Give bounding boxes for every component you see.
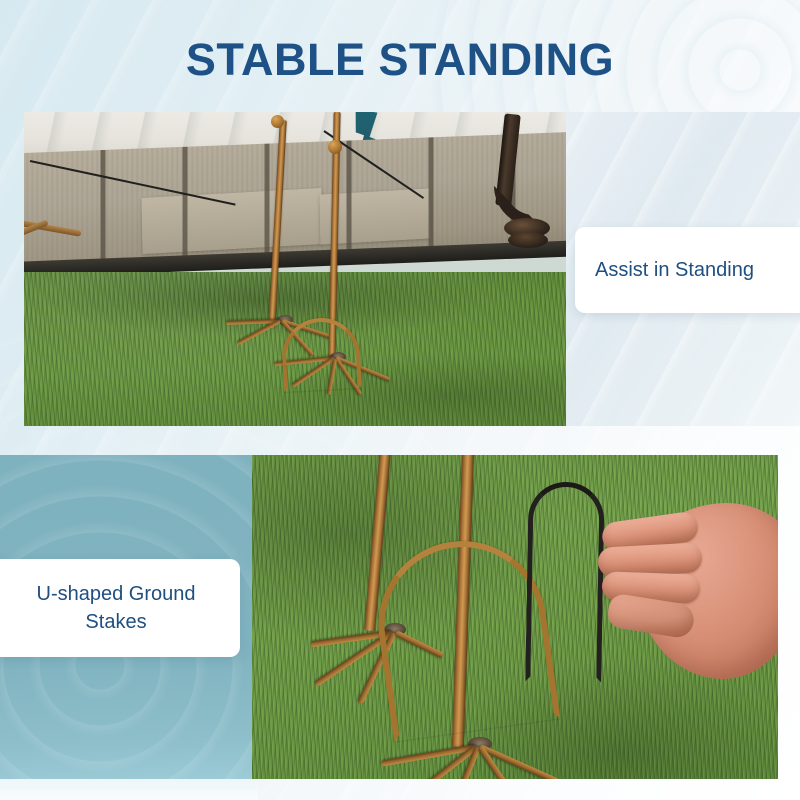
bottom-product-photo [252,455,778,779]
top-photo-scene [24,112,566,426]
pole-knob [328,140,342,154]
callout-label: U-shaped Ground Stakes [10,580,222,637]
callout-label: Assist in Standing [595,259,754,282]
human-hand [574,473,778,703]
callout-u-shaped-ground-stakes: U-shaped Ground Stakes [0,559,240,657]
top-product-photo [24,112,566,426]
pole-knob [271,115,284,128]
product-infographic-poster: STABLE STANDING [0,0,800,800]
ornate-metal-base [484,114,552,254]
page-title: STABLE STANDING [0,36,800,85]
deck-tile [142,188,323,254]
callout-assist-in-standing: Assist in Standing [575,227,800,313]
bottom-photo-scene [252,455,778,779]
bottom-left-band [0,779,258,800]
ornate-foot [508,232,548,248]
